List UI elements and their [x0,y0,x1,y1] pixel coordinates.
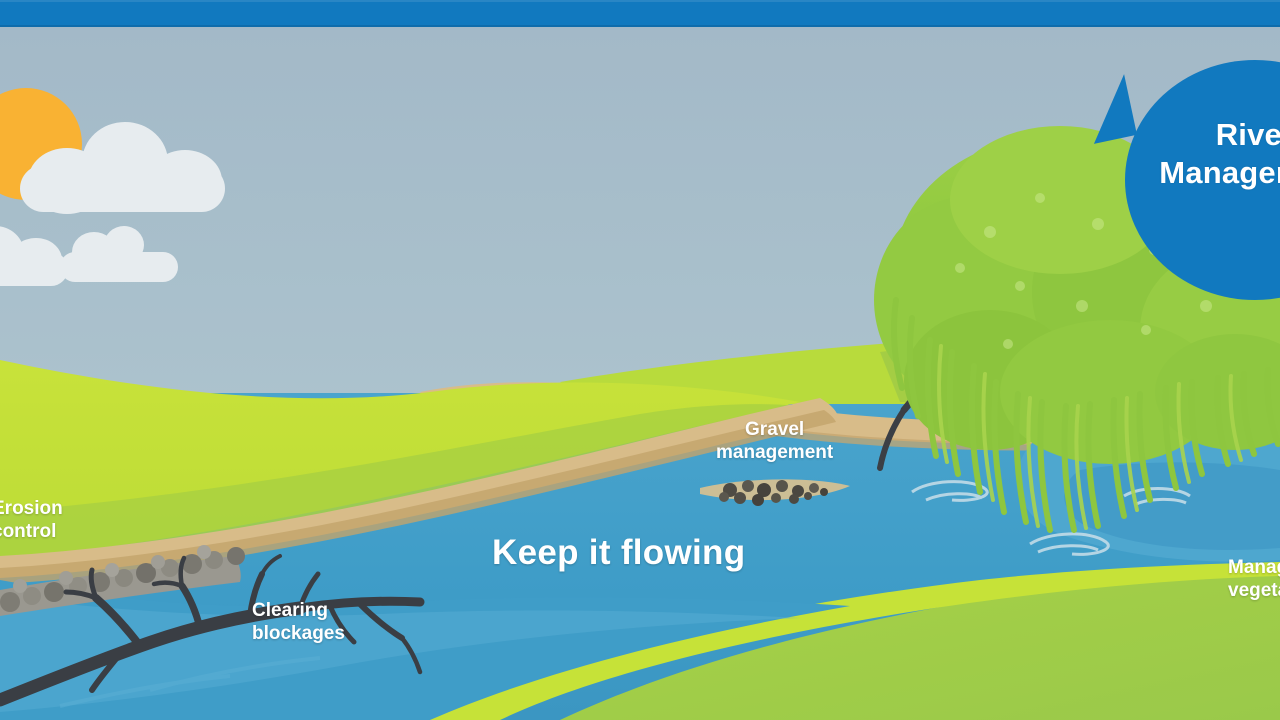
label-managing-vegetation: Managing vegetation [1228,557,1280,603]
label-managing-vegetation-line2: vegetation [1228,580,1280,603]
label-gravel-management-line2: management [716,442,833,465]
speech-bubble-line2: Management [1125,154,1280,192]
label-gravel-management: Gravel management [716,419,833,465]
top-blue-bar [0,0,1280,27]
headline-keep-it-flowing: Keep it flowing [492,532,745,574]
label-clearing-blockages-line1: Clearing [252,600,345,623]
label-erosion-control-line2: control [0,521,63,544]
label-clearing-blockages-line2: blockages [252,623,345,646]
label-managing-vegetation-line1: Managing [1228,557,1280,580]
speech-bubble-line1: River [1125,116,1280,154]
label-gravel-management-line1: Gravel [716,419,833,442]
label-erosion-control: Erosion control [0,498,63,544]
label-erosion-control-line1: Erosion [0,498,63,521]
speech-bubble-text: River Management [1125,116,1280,192]
illustration-canvas: River Management Erosion control Clearin… [0,0,1280,720]
label-clearing-blockages: Clearing blockages [252,600,345,646]
